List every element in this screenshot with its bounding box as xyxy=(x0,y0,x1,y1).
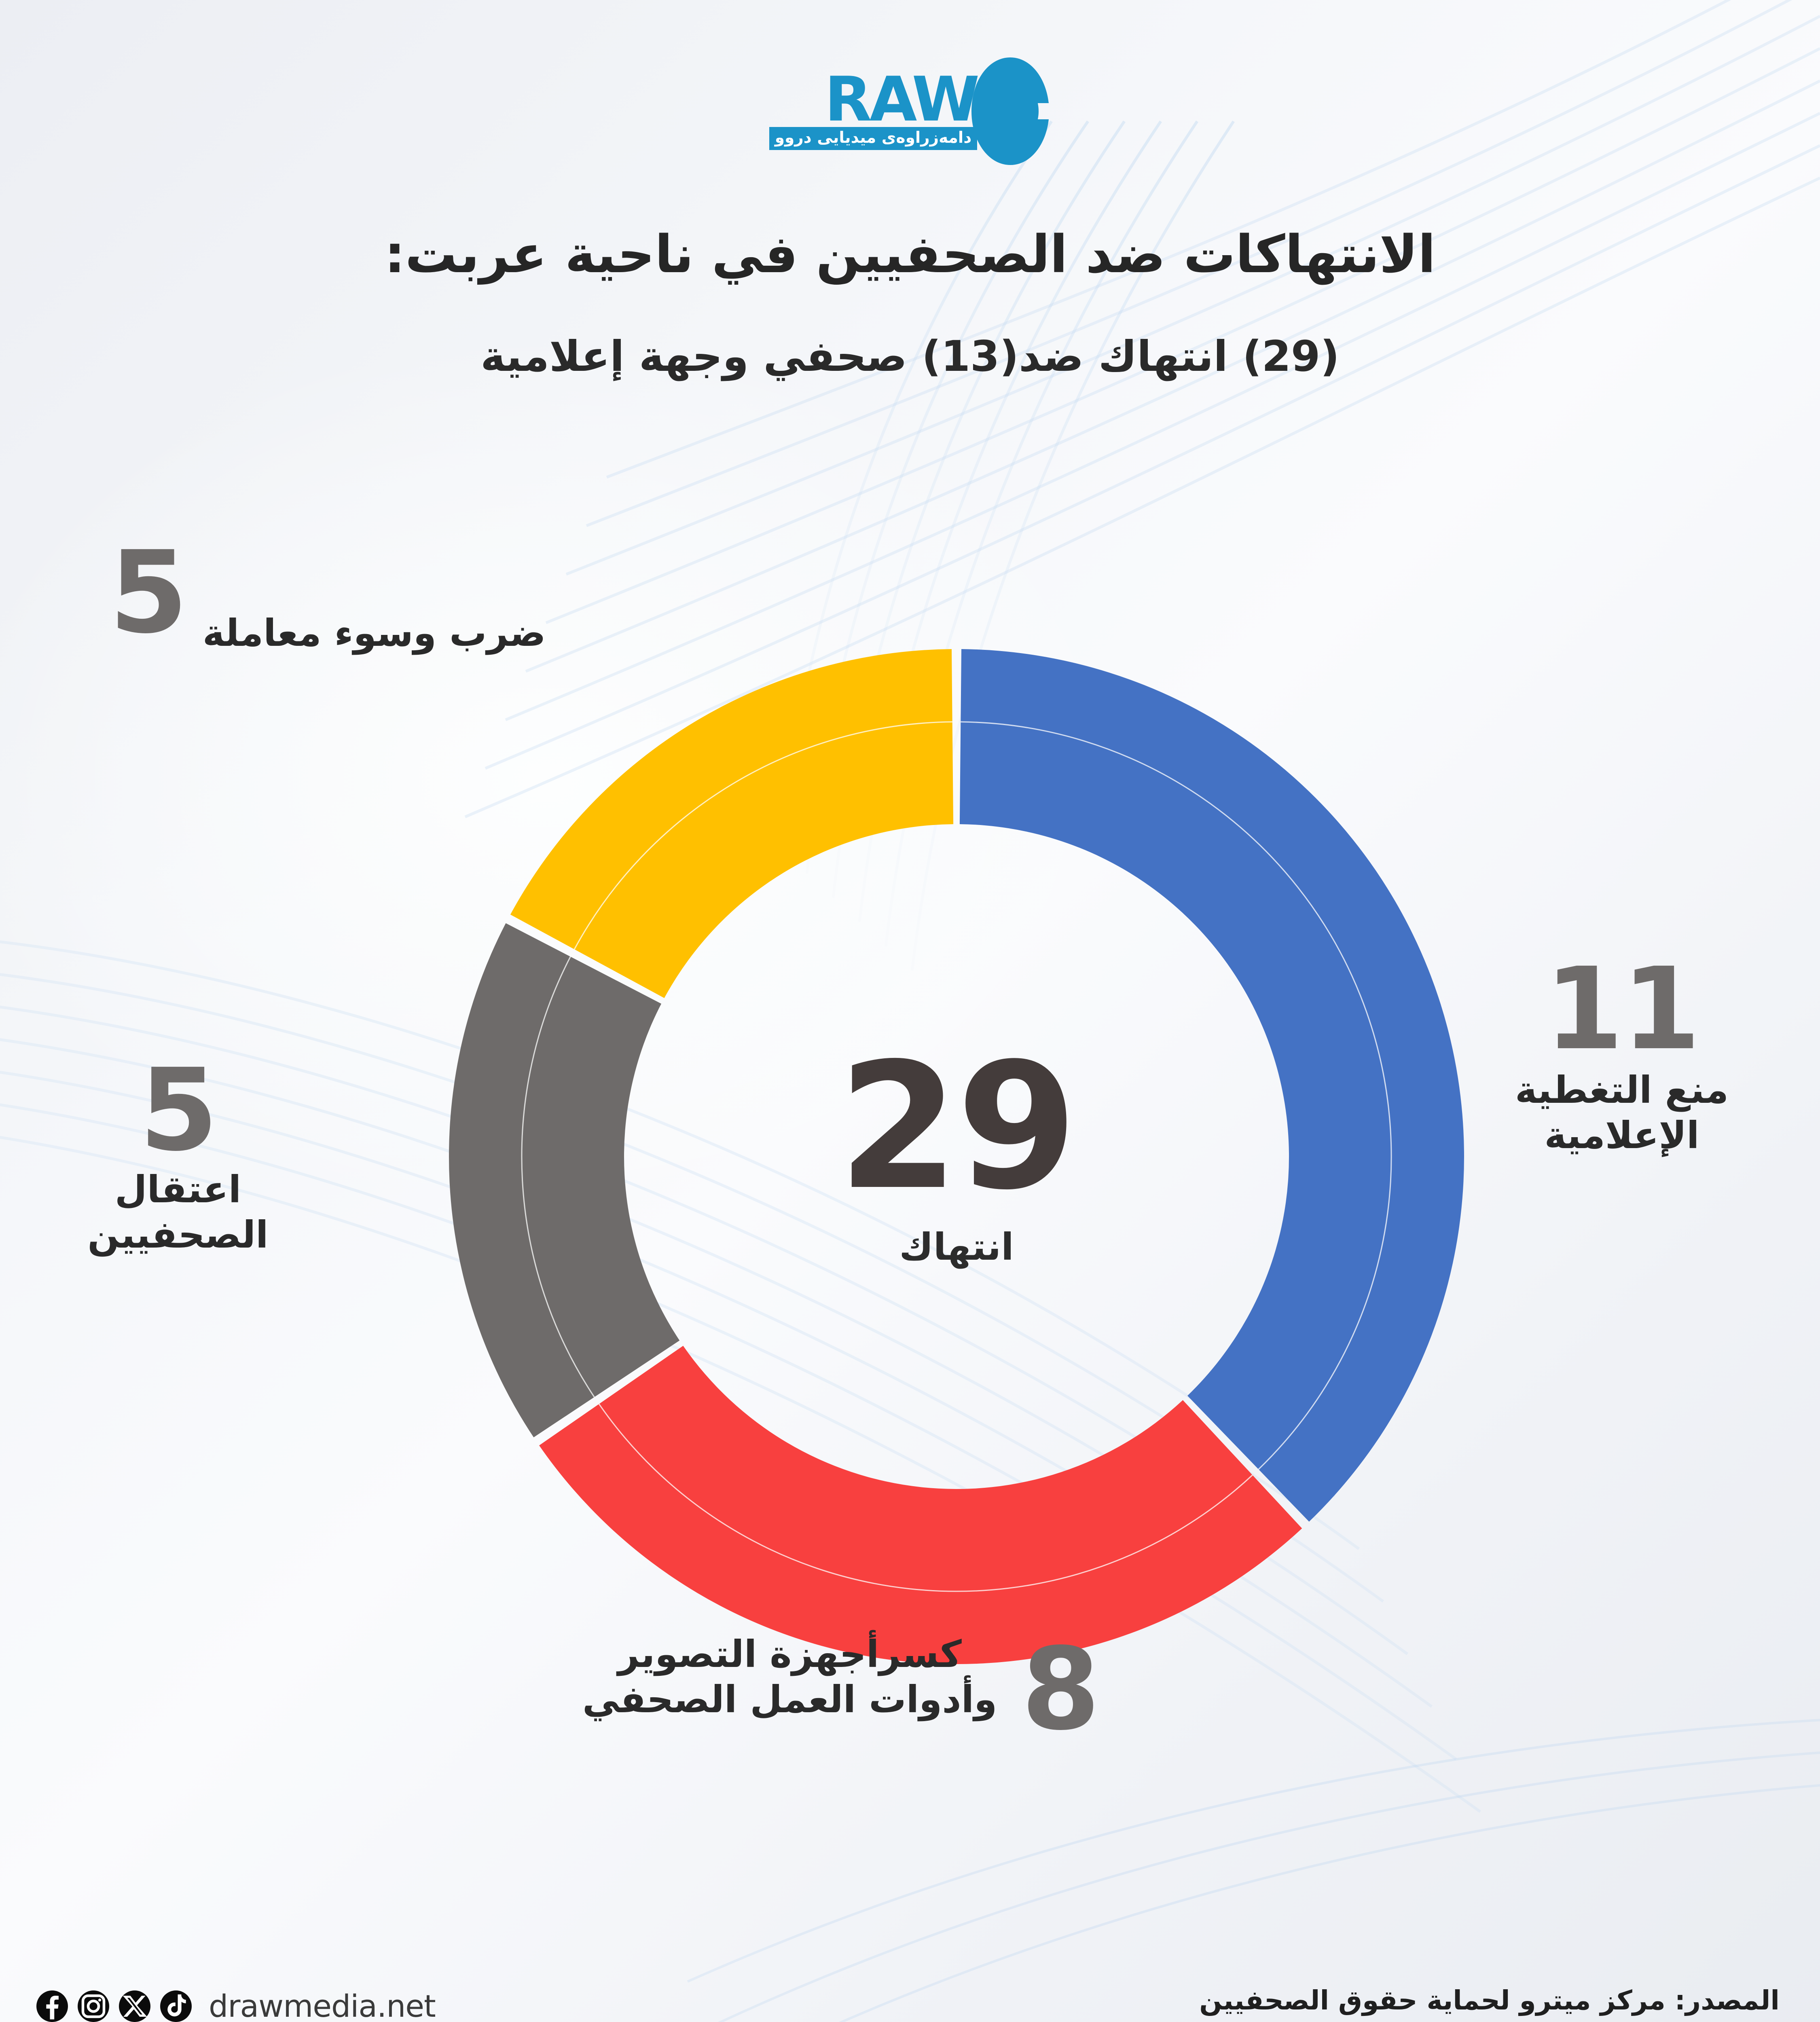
infographic-page: RAW دامەزراوەی میدیایی دروو الانتهاكات ض… xyxy=(0,0,1820,2022)
donut-slice xyxy=(960,649,1464,1522)
callout-prevent-media-coverage: 11 منع التغطية الإعلامية xyxy=(1472,958,1771,1158)
draw-d-monogram-icon xyxy=(970,57,1051,166)
callout-label-red-line2: وأدوات العمل الصحفي xyxy=(582,1678,997,1721)
donut-slice xyxy=(449,923,679,1437)
logo-subtitle: دامەزراوەی میدیایی دروو xyxy=(769,127,978,150)
tiktok-icon[interactable] xyxy=(160,1990,192,2022)
facebook-icon[interactable] xyxy=(36,1990,68,2022)
callout-value-yellow: 5 xyxy=(109,542,186,644)
callout-beating-mistreatment: ضرب وسوء معاملة 5 xyxy=(109,542,546,656)
callout-label-yellow: ضرب وسوء معاملة xyxy=(203,611,546,656)
callout-journalist-arrests: 5 اعتقال الصحفيين xyxy=(24,1060,332,1258)
donut-chart xyxy=(449,649,1464,1664)
donut-slice xyxy=(539,1346,1302,1664)
logo-wordmark: RAW xyxy=(825,72,978,127)
callout-equipment-destruction: 8 كسرأجهزة التصوير وأدوات العمل الصحفي xyxy=(582,1632,1098,1743)
callout-label-gray-line2: الصحفيين xyxy=(87,1213,268,1256)
footer-social-bar: drawmedia.net xyxy=(36,1988,436,2022)
instagram-icon[interactable] xyxy=(78,1990,109,2022)
callout-value-gray: 5 xyxy=(24,1060,332,1161)
website-url[interactable]: drawmedia.net xyxy=(209,1988,436,2022)
callout-value-blue: 11 xyxy=(1472,958,1771,1060)
callout-label-blue: منع التغطية الإعلامية xyxy=(1472,1068,1771,1158)
callout-label-red: كسرأجهزة التصوير وأدوات العمل الصحفي xyxy=(582,1632,997,1722)
x-icon[interactable] xyxy=(119,1990,150,2022)
callout-label-gray-line1: اعتقال xyxy=(115,1168,241,1211)
callout-label-red-line1: كسرأجهزة التصوير xyxy=(618,1633,962,1676)
callout-value-red: 8 xyxy=(1021,1636,1098,1743)
brand-logo: RAW دامەزراوەی میدیایی دروو xyxy=(0,57,1820,166)
page-subtitle: (29) انتهاك ضد(13) صحفي وجهة إعلامية xyxy=(0,332,1820,381)
callout-label-gray: اعتقال الصحفيين xyxy=(24,1167,332,1258)
page-title: الانتهاكات ضد الصحفيين في ناحية عربت: xyxy=(0,224,1820,285)
source-attribution: المصدر: مركز ميترو لحماية حقوق الصحفيين xyxy=(1199,1985,1780,2016)
